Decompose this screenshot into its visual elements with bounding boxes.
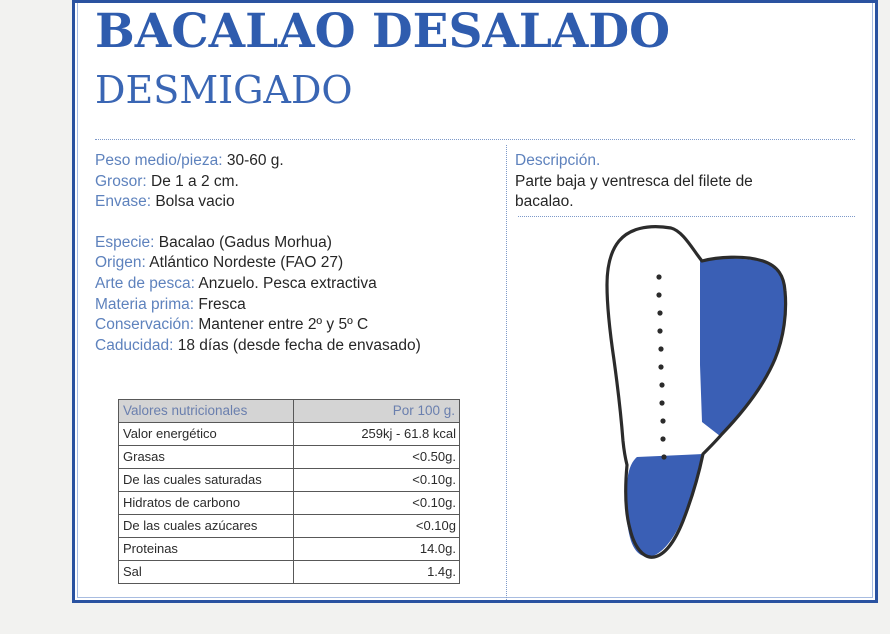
- table-row: De las cuales saturadas <0.10g.: [119, 469, 460, 492]
- nutrient-value: <0.10g.: [294, 492, 460, 515]
- specifications-list: Peso medio/pieza: 30-60 g. Grosor: De 1 …: [95, 151, 515, 356]
- spec-row: Materia prima: Fresca: [95, 295, 515, 316]
- nutrient-value: <0.10g: [294, 515, 460, 538]
- spec-value: 18 días (desde fecha de envasado): [178, 337, 421, 354]
- product-spec-sheet: BACALAO DESALADO DESMIGADO Peso medio/pi…: [0, 0, 890, 634]
- nutrient-value: 14.0g.: [294, 538, 460, 561]
- spec-row: Peso medio/pieza: 30-60 g.: [95, 151, 515, 172]
- nutrient-name: Valor energético: [119, 423, 294, 446]
- column-header-value: Por 100 g.: [294, 400, 460, 423]
- nutrient-name: Proteinas: [119, 538, 294, 561]
- description-text: Parte baja y ventresca del filete de bac…: [515, 172, 815, 213]
- spec-value: Anzuelo. Pesca extractiva: [198, 275, 376, 292]
- table-row: Proteinas 14.0g.: [119, 538, 460, 561]
- spec-row: Origen: Atlántico Nordeste (FAO 27): [95, 253, 515, 274]
- spec-value: Bolsa vacio: [155, 193, 234, 210]
- description-heading: Descripción.: [515, 151, 815, 172]
- spec-value: Fresca: [198, 296, 245, 313]
- spec-row: Especie: Bacalao (Gadus Morhua): [95, 233, 515, 254]
- spec-label: Origen:: [95, 254, 146, 271]
- page-subtitle: DESMIGADO: [95, 71, 353, 111]
- cod-fillet-illustration: [507, 215, 877, 593]
- table-row: Sal 1.4g.: [119, 561, 460, 584]
- spec-group-spacer: [95, 213, 515, 233]
- spec-label: Envase:: [95, 193, 151, 210]
- spec-label: Arte de pesca:: [95, 275, 195, 292]
- spec-value: De 1 a 2 cm.: [151, 173, 239, 190]
- table-row: Valor energético 259kj - 61.8 kcal: [119, 423, 460, 446]
- page-title: BACALAO DESALADO: [95, 7, 670, 56]
- nutrient-value: <0.10g.: [294, 469, 460, 492]
- spec-row: Envase: Bolsa vacio: [95, 192, 515, 213]
- nutrient-name: De las cuales azúcares: [119, 515, 294, 538]
- description-block: Descripción. Parte baja y ventresca del …: [515, 151, 815, 213]
- spec-row: Caducidad: 18 días (desde fecha de envas…: [95, 336, 515, 357]
- nutrient-value: <0.50g.: [294, 446, 460, 469]
- nutrient-name: Sal: [119, 561, 294, 584]
- nutrient-name: Hidratos de carbono: [119, 492, 294, 515]
- column-header-name: Valores nutricionales: [119, 400, 294, 423]
- spec-label: Grosor:: [95, 173, 147, 190]
- table-row: De las cuales azúcares <0.10g: [119, 515, 460, 538]
- spec-value: Atlántico Nordeste (FAO 27): [149, 254, 343, 271]
- cut-line-dots: [656, 274, 666, 459]
- table-header-row: Valores nutricionales Por 100 g.: [119, 400, 460, 423]
- spec-label: Peso medio/pieza:: [95, 152, 223, 169]
- spec-label: Materia prima:: [95, 296, 194, 313]
- nutrition-table: Valores nutricionales Por 100 g. Valor e…: [118, 399, 460, 584]
- spec-label: Conservación:: [95, 316, 194, 333]
- title-divider: [95, 139, 855, 140]
- spec-value: Mantener entre 2º y 5º C: [198, 316, 368, 333]
- highlight-region-lower: [626, 454, 703, 557]
- nutrient-value: 259kj - 61.8 kcal: [294, 423, 460, 446]
- spec-row: Arte de pesca: Anzuelo. Pesca extractiva: [95, 274, 515, 295]
- sheet-frame: BACALAO DESALADO DESMIGADO Peso medio/pi…: [72, 0, 878, 603]
- spec-row: Grosor: De 1 a 2 cm.: [95, 172, 515, 193]
- nutrient-name: De las cuales saturadas: [119, 469, 294, 492]
- spec-value: 30-60 g.: [227, 152, 284, 169]
- spec-label: Caducidad:: [95, 337, 173, 354]
- nutrient-name: Grasas: [119, 446, 294, 469]
- table-row: Hidratos de carbono <0.10g.: [119, 492, 460, 515]
- nutrient-value: 1.4g.: [294, 561, 460, 584]
- cod-fillet-icon: [507, 215, 877, 593]
- table-row: Grasas <0.50g.: [119, 446, 460, 469]
- spec-value: Bacalao (Gadus Morhua): [159, 234, 332, 251]
- spec-row: Conservación: Mantener entre 2º y 5º C: [95, 315, 515, 336]
- spec-label: Especie:: [95, 234, 154, 251]
